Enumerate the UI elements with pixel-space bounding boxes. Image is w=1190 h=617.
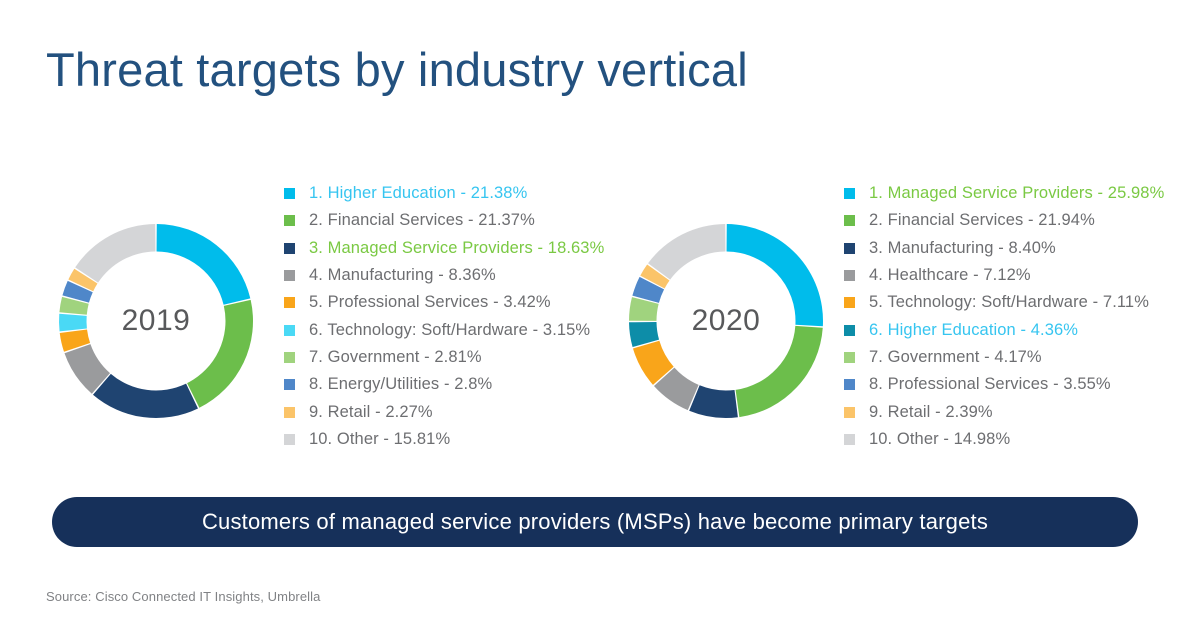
legend-item: 10. Other - 15.81%: [284, 426, 614, 453]
legend-item-label: 6. Technology: Soft/Hardware - 3.15%: [309, 321, 590, 340]
legend-item: 7. Government - 2.81%: [284, 344, 614, 371]
legend-2020: 1. Managed Service Providers - 25.98%2. …: [844, 180, 1184, 453]
legend-item: 7. Government - 4.17%: [844, 344, 1184, 371]
legend-swatch-icon: [844, 297, 855, 308]
legend-item-label: 2. Financial Services - 21.94%: [869, 211, 1095, 230]
legend-item-label: 10. Other - 15.81%: [309, 430, 450, 449]
legend-swatch-icon: [284, 407, 295, 418]
legend-2019: 1. Higher Education - 21.38%2. Financial…: [284, 180, 614, 453]
legend-item-label: 4. Healthcare - 7.12%: [869, 266, 1031, 285]
legend-item-label: 5. Professional Services - 3.42%: [309, 293, 551, 312]
legend-item-label: 3. Manufacturing - 8.40%: [869, 239, 1056, 258]
legend-swatch-icon: [844, 379, 855, 390]
legend-swatch-icon: [844, 434, 855, 445]
legend-item: 4. Manufacturing - 8.36%: [284, 262, 614, 289]
legend-item-label: 7. Government - 2.81%: [309, 348, 482, 367]
legend-item-label: 7. Government - 4.17%: [869, 348, 1042, 367]
legend-swatch-icon: [844, 188, 855, 199]
legend-item: 5. Technology: Soft/Hardware - 7.11%: [844, 289, 1184, 316]
legend-item-label: 4. Manufacturing - 8.36%: [309, 266, 496, 285]
legend-swatch-icon: [284, 297, 295, 308]
legend-item-label: 5. Technology: Soft/Hardware - 7.11%: [869, 293, 1149, 312]
legend-item: 2. Financial Services - 21.94%: [844, 207, 1184, 234]
legend-item-label: 9. Retail - 2.39%: [869, 403, 993, 422]
legend-swatch-icon: [844, 270, 855, 281]
legend-item: 5. Professional Services - 3.42%: [284, 289, 614, 316]
legend-swatch-icon: [844, 352, 855, 363]
legend-swatch-icon: [284, 243, 295, 254]
legend-swatch-icon: [284, 352, 295, 363]
legend-item: 3. Managed Service Providers - 18.63%: [284, 235, 614, 262]
legend-item-label: 8. Energy/Utilities - 2.8%: [309, 375, 492, 394]
legend-item: 9. Retail - 2.27%: [284, 398, 614, 425]
legend-swatch-icon: [284, 270, 295, 281]
legend-item-label: 3. Managed Service Providers - 18.63%: [309, 239, 604, 258]
legend-item: 3. Manufacturing - 8.40%: [844, 235, 1184, 262]
legend-swatch-icon: [284, 434, 295, 445]
legend-item: 2. Financial Services - 21.37%: [284, 207, 614, 234]
legend-swatch-icon: [284, 325, 295, 336]
source-note: Source: Cisco Connected IT Insights, Umb…: [46, 589, 321, 604]
legend-swatch-icon: [284, 188, 295, 199]
legend-item: 1. Higher Education - 21.38%: [284, 180, 614, 207]
donut-center-label-2020: 2020: [627, 222, 825, 420]
callout-banner-text: Customers of managed service providers (…: [202, 509, 988, 535]
legend-item-label: 8. Professional Services - 3.55%: [869, 375, 1111, 394]
legend-item-label: 1. Higher Education - 21.38%: [309, 184, 527, 203]
callout-banner: Customers of managed service providers (…: [52, 497, 1138, 547]
legend-item: 6. Higher Education - 4.36%: [844, 316, 1184, 343]
legend-item: 10. Other - 14.98%: [844, 426, 1184, 453]
legend-swatch-icon: [284, 215, 295, 226]
legend-item-label: 10. Other - 14.98%: [869, 430, 1010, 449]
donut-chart-2019: 2019: [57, 222, 255, 420]
legend-swatch-icon: [284, 379, 295, 390]
legend-item-label: 9. Retail - 2.27%: [309, 403, 433, 422]
legend-item-label: 2. Financial Services - 21.37%: [309, 211, 535, 230]
legend-item: 6. Technology: Soft/Hardware - 3.15%: [284, 316, 614, 343]
legend-item: 1. Managed Service Providers - 25.98%: [844, 180, 1184, 207]
legend-item: 4. Healthcare - 7.12%: [844, 262, 1184, 289]
legend-item: 9. Retail - 2.39%: [844, 398, 1184, 425]
legend-swatch-icon: [844, 325, 855, 336]
legend-item-label: 1. Managed Service Providers - 25.98%: [869, 184, 1164, 203]
donut-chart-2020: 2020: [627, 222, 825, 420]
legend-item: 8. Energy/Utilities - 2.8%: [284, 371, 614, 398]
page-title: Threat targets by industry vertical: [46, 40, 748, 100]
legend-swatch-icon: [844, 243, 855, 254]
slide-root: Threat targets by industry vertical 2019…: [0, 0, 1190, 617]
donut-center-label-2019: 2019: [57, 222, 255, 420]
legend-swatch-icon: [844, 215, 855, 226]
legend-item: 8. Professional Services - 3.55%: [844, 371, 1184, 398]
legend-swatch-icon: [844, 407, 855, 418]
legend-item-label: 6. Higher Education - 4.36%: [869, 321, 1078, 340]
